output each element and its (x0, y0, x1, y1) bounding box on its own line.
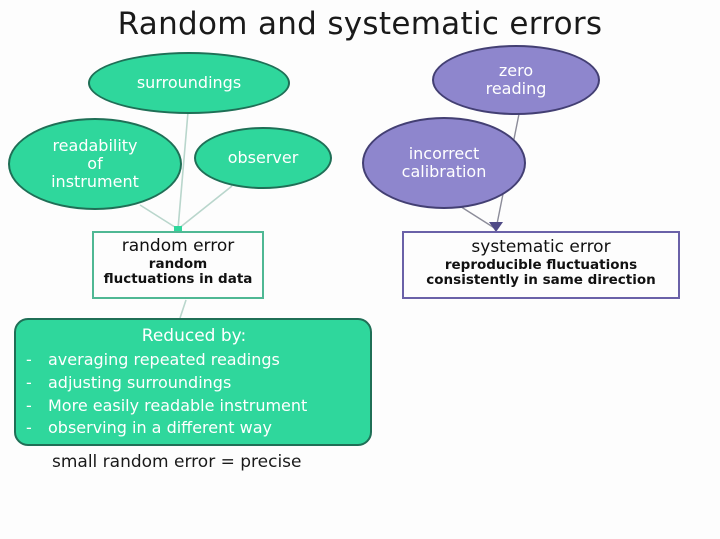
systematic-error-box[interactable]: systematic error reproducible fluctuatio… (402, 231, 680, 299)
random-error-line-2: fluctuations in data (94, 272, 262, 288)
reduced-by-item-bullet: - (26, 349, 48, 372)
systematic-error-line-1: reproducible fluctuations (404, 258, 678, 274)
systematic-error-line-2: consistently in same direction (404, 273, 678, 289)
reduced-by-item-label: observing in a different way (48, 417, 272, 440)
reduced-by-panel[interactable]: Reduced by: -averaging repeated readings… (14, 318, 372, 446)
node-surroundings-label: surroundings (137, 74, 241, 92)
reduced-by-item-bullet: - (26, 372, 48, 395)
reduced-by-item: -adjusting surroundings (26, 372, 362, 395)
node-incorrect-calibration[interactable]: incorrectcalibration (362, 117, 526, 209)
reduced-by-title: Reduced by: (26, 326, 362, 347)
page-title: Random and systematic errors (0, 6, 720, 42)
reduced-by-item-label: More easily readable instrument (48, 395, 307, 418)
random-error-heading: random error (94, 237, 262, 257)
reduced-by-item: -observing in a different way (26, 417, 362, 440)
node-readability-of-instrument[interactable]: readabilityofinstrument (8, 118, 182, 210)
edge-readability-to-random (140, 205, 178, 229)
node-observer[interactable]: observer (194, 127, 332, 189)
reduced-by-item-label: adjusting surroundings (48, 372, 231, 395)
reduced-by-item-label: averaging repeated readings (48, 349, 280, 372)
node-observer-label: observer (228, 149, 299, 167)
reduced-by-list: -averaging repeated readings-adjusting s… (26, 349, 362, 440)
reduced-by-item: -averaging repeated readings (26, 349, 362, 372)
reduced-by-item: -More easily readable instrument (26, 395, 362, 418)
node-zero-reading[interactable]: zeroreading (432, 45, 600, 115)
random-error-box[interactable]: random error random fluctuations in data (92, 231, 264, 299)
node-incorrect-calibration-label: incorrectcalibration (402, 145, 487, 181)
edge-random-to-reduced (180, 300, 186, 318)
node-readability-of-instrument-label: readabilityofinstrument (51, 137, 139, 191)
systematic-error-heading: systematic error (404, 238, 678, 258)
edge-observer-to-random (178, 186, 232, 229)
random-error-line-1: random (94, 257, 262, 273)
node-surroundings[interactable]: surroundings (88, 52, 290, 114)
node-zero-reading-label: zeroreading (486, 62, 547, 98)
diagram-canvas: Random and systematic errors surrounding… (0, 0, 720, 539)
reduced-by-item-bullet: - (26, 395, 48, 418)
reduced-by-item-bullet: - (26, 417, 48, 440)
precision-caption: small random error = precise (52, 452, 301, 472)
